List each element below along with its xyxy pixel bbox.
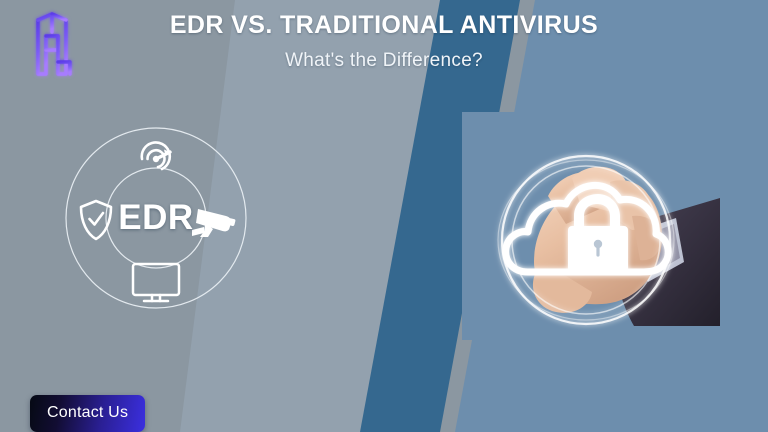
contact-us-button[interactable]: Contact Us xyxy=(30,395,145,432)
edr-center-label: EDR xyxy=(62,124,250,312)
company-logo[interactable] xyxy=(14,6,90,88)
banner-root: EDR VS. TRADITIONAL ANTIVIRUS What's the… xyxy=(0,0,768,432)
edr-concept-diagram: EDR xyxy=(62,124,250,312)
hand-cloud-security-image xyxy=(462,112,720,340)
